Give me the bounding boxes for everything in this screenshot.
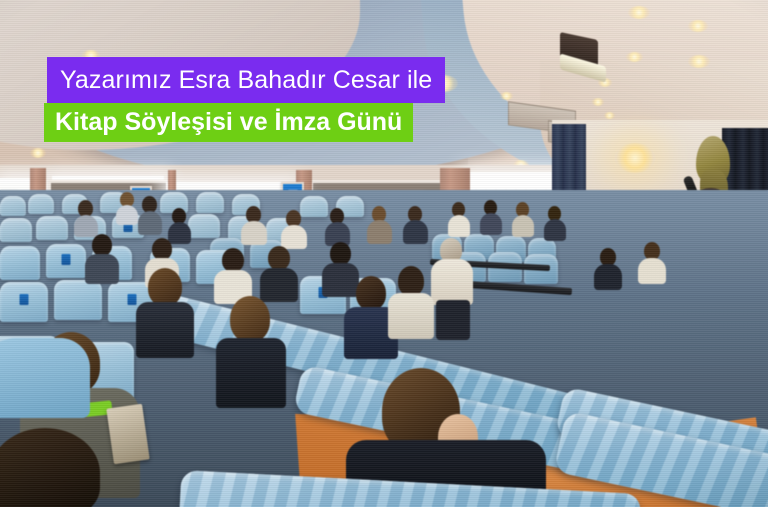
ceiling-spotlight-icon xyxy=(604,112,615,119)
seat xyxy=(0,282,48,322)
overlay-title-line1: Yazarımız Esra Bahadır Cesar ile xyxy=(47,57,445,103)
seat-logo-icon xyxy=(62,254,71,265)
seat xyxy=(188,214,220,238)
stage-wall-lamp xyxy=(615,143,655,173)
seat xyxy=(196,192,224,213)
photo-canvas: Yazarımız Esra Bahadır Cesar ile Kitap S… xyxy=(0,0,768,507)
seat xyxy=(0,196,26,216)
audience-shoulder xyxy=(0,338,90,418)
ceiling-spotlight-icon xyxy=(688,20,708,32)
ceiling-spotlight-icon xyxy=(500,92,513,100)
seat xyxy=(46,244,86,278)
window-valance xyxy=(466,178,566,188)
seat-logo-icon xyxy=(128,294,137,305)
ceiling-spotlight-icon xyxy=(592,98,604,106)
ceiling-spotlight-icon xyxy=(626,52,643,62)
seat xyxy=(0,246,40,280)
overlay-title-line2: Kitap Söyleşisi ve İmza Günü xyxy=(44,103,413,142)
seat xyxy=(0,218,32,242)
seat xyxy=(28,194,54,214)
seat xyxy=(54,280,102,320)
ceiling-spotlight-icon xyxy=(30,148,46,158)
ceiling-spotlight-icon xyxy=(628,6,650,19)
seat xyxy=(300,196,328,217)
seat-logo-icon xyxy=(20,294,29,305)
book xyxy=(106,404,149,464)
seat xyxy=(36,216,68,240)
ceiling-spotlight-icon xyxy=(688,55,710,68)
